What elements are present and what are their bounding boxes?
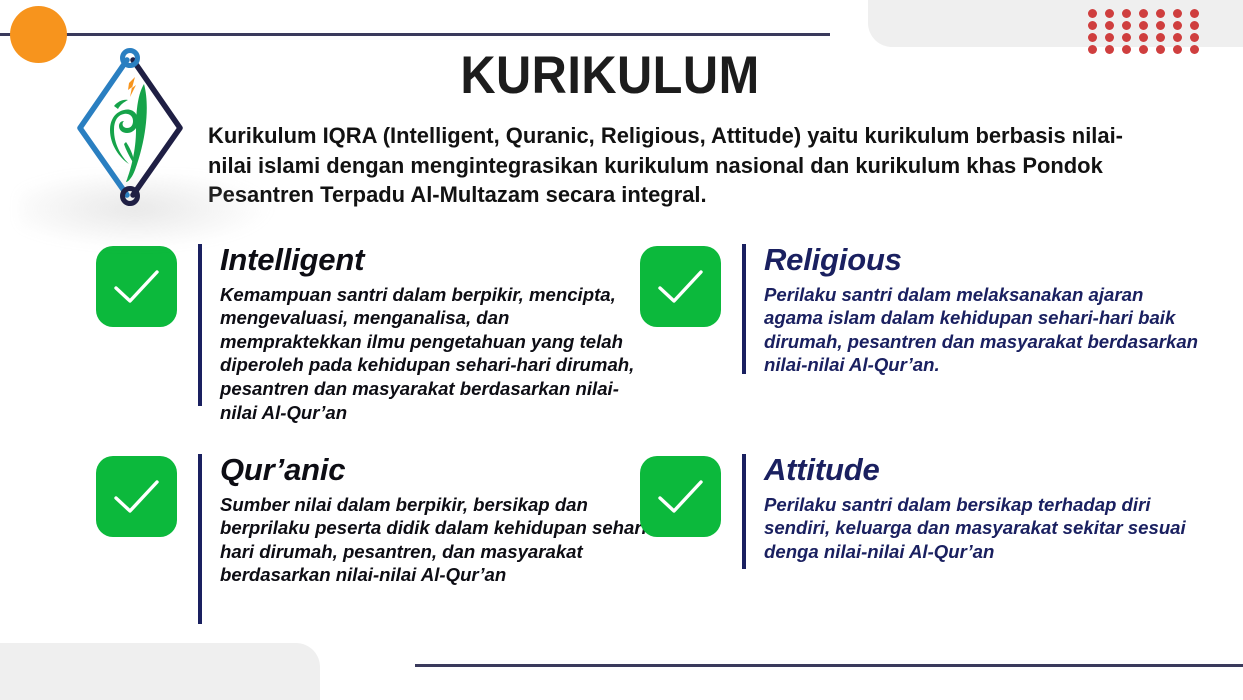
intro-paragraph: Kurikulum IQRA (Intelligent, Quranic, Re… bbox=[208, 121, 1129, 210]
dot bbox=[1190, 45, 1199, 54]
item-title: Religious bbox=[764, 244, 1205, 277]
dot bbox=[1173, 9, 1182, 18]
dot bbox=[1190, 9, 1199, 18]
dot bbox=[1139, 45, 1148, 54]
dot bbox=[1105, 21, 1114, 30]
item-description: Perilaku santri dalam melaksanakan ajara… bbox=[764, 283, 1205, 377]
dot bbox=[1139, 9, 1148, 18]
item-divider-line bbox=[198, 454, 202, 624]
dot bbox=[1088, 45, 1097, 54]
dot bbox=[1156, 21, 1165, 30]
dot bbox=[1122, 9, 1131, 18]
item-body: Qur’anic Sumber nilai dalam berpikir, be… bbox=[220, 454, 656, 587]
item-divider-line bbox=[742, 244, 746, 374]
dot bbox=[1156, 45, 1165, 54]
dot bbox=[1156, 9, 1165, 18]
dot bbox=[1139, 33, 1148, 42]
item-body: Intelligent Kemampuan santri dalam berpi… bbox=[220, 244, 656, 424]
item-quranic: Qur’anic Sumber nilai dalam berpikir, be… bbox=[96, 454, 656, 624]
dot bbox=[1122, 21, 1131, 30]
dot bbox=[1122, 45, 1131, 54]
bottom-left-gray-panel bbox=[0, 643, 320, 700]
dot bbox=[1105, 45, 1114, 54]
check-icon bbox=[96, 246, 177, 327]
bottom-divider-rule bbox=[415, 664, 1243, 667]
item-body: Religious Perilaku santri dalam melaksan… bbox=[764, 244, 1205, 377]
dot bbox=[1088, 9, 1097, 18]
item-description: Sumber nilai dalam berpikir, bersikap da… bbox=[220, 493, 656, 587]
item-title: Attitude bbox=[764, 454, 1205, 487]
dot bbox=[1122, 33, 1131, 42]
dot bbox=[1156, 33, 1165, 42]
item-description: Perilaku santri dalam bersikap terhadap … bbox=[764, 493, 1205, 564]
slide-root: KURIKULUM Kurikulum IQRA (Intelligent, Q… bbox=[0, 0, 1243, 700]
item-attitude: Attitude Perilaku santri dalam bersikap … bbox=[640, 454, 1205, 569]
al-multazam-logo bbox=[66, 44, 194, 209]
dot bbox=[1190, 33, 1199, 42]
top-divider-rule bbox=[0, 33, 830, 36]
page-title: KURIKULUM bbox=[224, 49, 997, 102]
dot bbox=[1088, 21, 1097, 30]
red-dot-grid-decoration bbox=[1088, 9, 1207, 57]
item-divider-line bbox=[198, 244, 202, 406]
dot bbox=[1173, 33, 1182, 42]
check-icon bbox=[96, 456, 177, 537]
orange-circle-decoration bbox=[10, 6, 67, 63]
check-icon bbox=[640, 456, 721, 537]
check-icon bbox=[640, 246, 721, 327]
item-title: Qur’anic bbox=[220, 454, 656, 487]
dot bbox=[1088, 33, 1097, 42]
item-religious: Religious Perilaku santri dalam melaksan… bbox=[640, 244, 1205, 377]
item-intelligent: Intelligent Kemampuan santri dalam berpi… bbox=[96, 244, 656, 424]
dot bbox=[1173, 21, 1182, 30]
dot bbox=[1105, 33, 1114, 42]
item-description: Kemampuan santri dalam berpikir, mencipt… bbox=[220, 283, 656, 425]
dot bbox=[1173, 45, 1182, 54]
dot bbox=[1190, 21, 1199, 30]
dot bbox=[1139, 21, 1148, 30]
item-title: Intelligent bbox=[220, 244, 656, 277]
item-divider-line bbox=[742, 454, 746, 569]
item-body: Attitude Perilaku santri dalam bersikap … bbox=[764, 454, 1205, 563]
dot bbox=[1105, 9, 1114, 18]
